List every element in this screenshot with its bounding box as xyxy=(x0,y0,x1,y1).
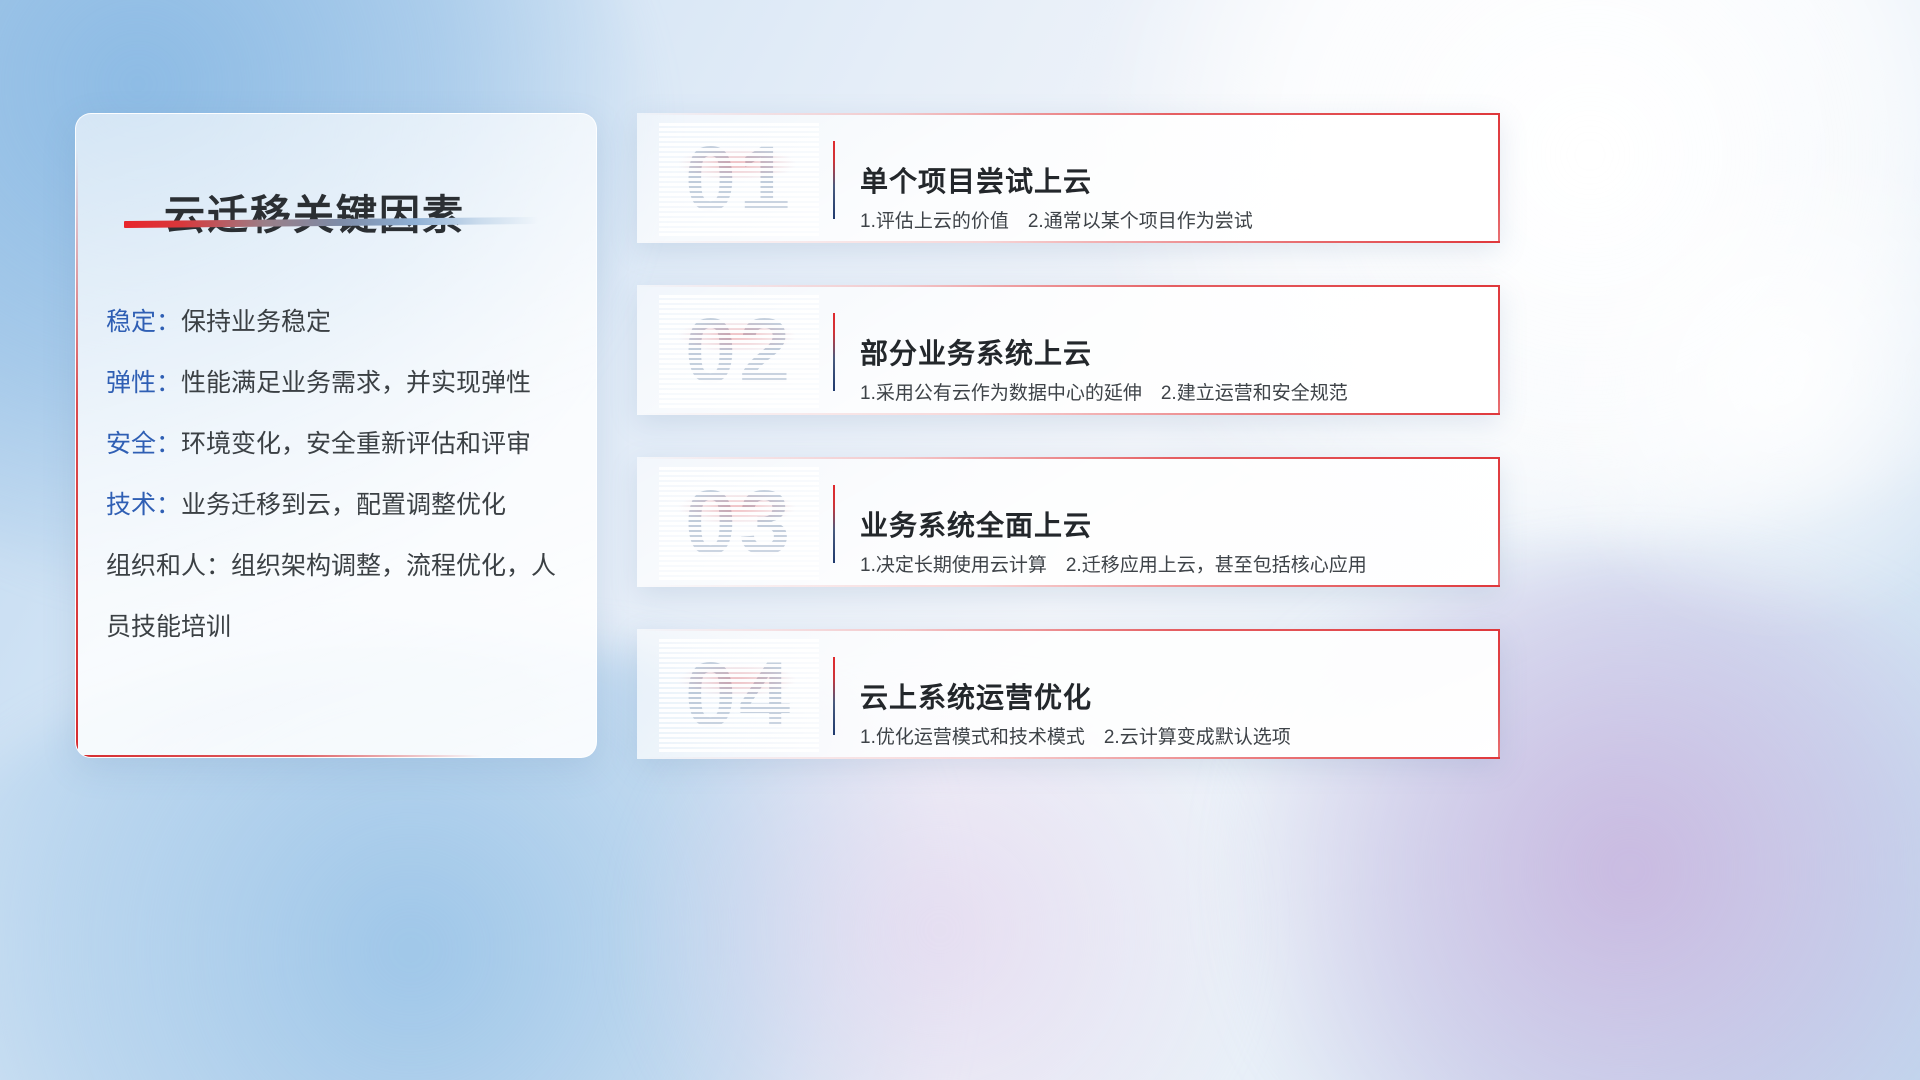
card-number-decoration: 02 xyxy=(659,293,819,409)
card-number-decoration: 03 xyxy=(659,465,819,581)
card-top-border xyxy=(637,285,1500,287)
card-divider-line xyxy=(833,657,835,735)
card-top-border xyxy=(637,457,1500,459)
card-right-border xyxy=(1498,629,1500,759)
card-number-decoration: 04 xyxy=(659,637,819,753)
list-item: 技术：业务迁移到云，配置调整优化 xyxy=(106,475,576,536)
card-title: 单个项目尝试上云 xyxy=(860,160,1092,200)
panel-title: 云迁移关键因素 xyxy=(164,181,465,241)
list-item: 弹性：性能满足业务需求，并实现弹性 xyxy=(106,353,576,414)
list-item-text: 性能满足业务需求，并实现弹性 xyxy=(181,369,531,397)
stage-cards: 01 单个项目尝试上云 1.评估上云的价值 2.通常以某个项目作为尝试 02 部… xyxy=(637,113,1500,801)
card-bottom-border xyxy=(637,757,1500,759)
card-divider-line xyxy=(833,485,835,563)
list-item-key: 安全： xyxy=(106,430,181,458)
card-number-stripes xyxy=(659,637,819,753)
card-bottom-border xyxy=(637,413,1500,415)
card-top-border xyxy=(637,113,1500,115)
list-item: 稳定：保持业务稳定 xyxy=(106,292,576,353)
list-item-key: 技术： xyxy=(106,491,181,519)
stage-card[interactable]: 03 业务系统全面上云 1.决定长期使用云计算 2.迁移应用上云，甚至包括核心应… xyxy=(637,457,1500,587)
card-bottom-border xyxy=(637,585,1500,587)
card-title: 业务系统全面上云 xyxy=(860,504,1092,544)
card-title: 部分业务系统上云 xyxy=(860,332,1092,372)
card-bottom-border xyxy=(637,241,1500,243)
list-item: 组织和人：组织架构调整，流程优化，人员技能培训 xyxy=(106,536,576,658)
list-item-key: 弹性： xyxy=(106,369,181,397)
card-divider-line xyxy=(833,313,835,391)
card-top-border xyxy=(637,629,1500,631)
card-divider-line xyxy=(833,141,835,219)
card-right-border xyxy=(1498,113,1500,243)
card-description: 1.优化运营模式和技术模式 2.云计算变成默认选项 xyxy=(860,722,1291,749)
card-title: 云上系统运营优化 xyxy=(860,676,1092,716)
card-number-stripes xyxy=(659,121,819,237)
key-factors-panel: 云迁移关键因素 稳定：保持业务稳定 弹性：性能满足业务需求，并实现弹性 安全：环… xyxy=(75,113,597,758)
card-description: 1.决定长期使用云计算 2.迁移应用上云，甚至包括核心应用 xyxy=(860,550,1367,577)
card-right-border xyxy=(1498,457,1500,587)
list-item-text: 业务迁移到云，配置调整优化 xyxy=(181,491,506,519)
stage-card[interactable]: 02 部分业务系统上云 1.采用公有云作为数据中心的延伸 2.建立运营和安全规范 xyxy=(637,285,1500,415)
card-description: 1.评估上云的价值 2.通常以某个项目作为尝试 xyxy=(860,206,1253,233)
card-description: 1.采用公有云作为数据中心的延伸 2.建立运营和安全规范 xyxy=(860,378,1348,405)
list-item: 安全：环境变化，安全重新评估和评审 xyxy=(106,414,576,475)
card-right-border xyxy=(1498,285,1500,415)
list-item-key: 稳定： xyxy=(106,308,181,336)
list-item-text: 保持业务稳定 xyxy=(181,308,331,336)
card-number-stripes xyxy=(659,465,819,581)
list-item-key: 组织和人： xyxy=(106,552,231,580)
key-factors-list: 稳定：保持业务稳定 弹性：性能满足业务需求，并实现弹性 安全：环境变化，安全重新… xyxy=(106,292,576,658)
card-number-stripes xyxy=(659,293,819,409)
stage-card[interactable]: 04 云上系统运营优化 1.优化运营模式和技术模式 2.云计算变成默认选项 xyxy=(637,629,1500,759)
stage-card[interactable]: 01 单个项目尝试上云 1.评估上云的价值 2.通常以某个项目作为尝试 xyxy=(637,113,1500,243)
list-item-text: 环境变化，安全重新评估和评审 xyxy=(181,430,531,458)
card-number-decoration: 01 xyxy=(659,121,819,237)
